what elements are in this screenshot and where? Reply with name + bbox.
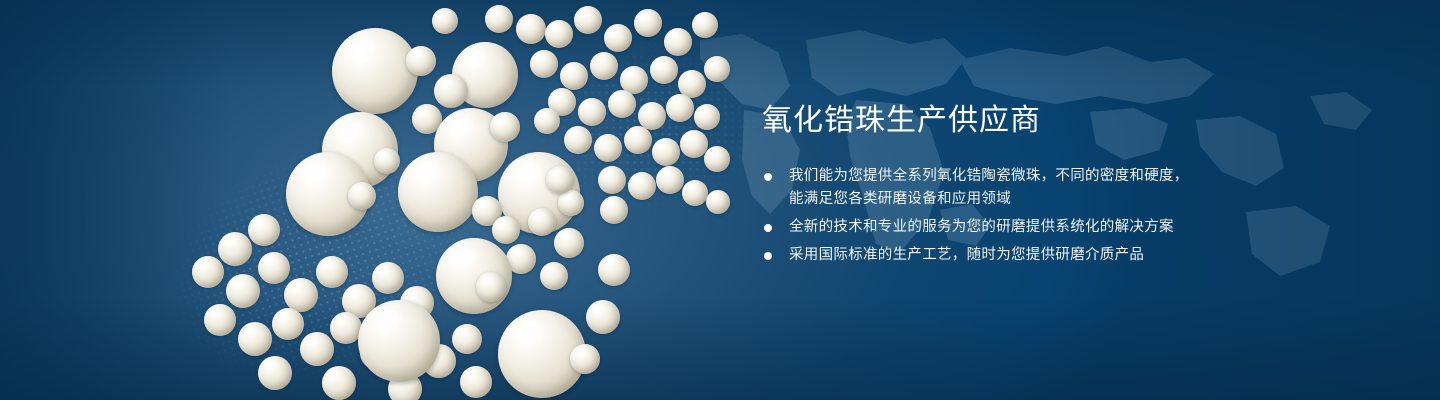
ceramic-bead xyxy=(574,6,602,34)
ceramic-bead xyxy=(238,322,272,356)
ceramic-bead xyxy=(272,308,304,340)
feature-list-item-label: 采用国际标准的生产工艺，随时为您提供研磨介质产品 xyxy=(789,247,1144,263)
ceramic-bead xyxy=(594,134,622,162)
ceramic-bead xyxy=(374,148,400,174)
ceramic-bead xyxy=(598,166,626,194)
bullet-dot-icon xyxy=(764,252,772,260)
ceramic-bead xyxy=(485,5,513,33)
page-title: 氧化锆珠生产供应商 xyxy=(762,104,1232,137)
ceramic-bead xyxy=(628,172,656,200)
feature-list: 我们能为您提供全系列氧化锆陶瓷微珠，不同的密度和硬度， 能满足您各类研磨设备和应… xyxy=(762,165,1232,267)
ceramic-bead xyxy=(516,14,546,44)
ceramic-bead xyxy=(490,112,520,142)
ceramic-bead xyxy=(666,94,694,122)
ceramic-bead xyxy=(432,8,458,34)
ceramic-bead xyxy=(704,146,730,172)
ceramic-bead xyxy=(652,138,680,166)
ceramic-bead xyxy=(564,126,592,154)
bullet-dot-icon xyxy=(764,224,772,232)
ceramic-bead xyxy=(598,254,630,286)
ceramic-bead xyxy=(608,90,636,118)
ceramic-bead xyxy=(530,50,558,78)
ceramic-bead xyxy=(578,98,606,126)
ceramic-bead xyxy=(398,152,478,232)
ceramic-bead xyxy=(558,190,584,216)
ceramic-bead xyxy=(528,208,556,236)
ceramic-bead xyxy=(706,190,730,214)
ceramic-bead xyxy=(560,62,588,90)
ceramic-bead xyxy=(604,24,632,52)
ceramic-bead xyxy=(226,274,260,308)
ceramic-bead xyxy=(650,56,678,84)
ceramic-bead xyxy=(694,104,720,130)
ceramic-bead xyxy=(322,366,356,400)
ceramic-bead xyxy=(204,304,236,336)
ceramic-bead xyxy=(545,20,573,48)
ceramic-bead xyxy=(624,126,652,154)
feature-list-item-label: 全新的技术和专业的服务为您的研磨提供系统化的解决方案 xyxy=(789,219,1174,235)
ceramic-bead xyxy=(656,166,684,194)
ceramic-bead xyxy=(406,46,436,76)
bullet-dot-icon xyxy=(764,173,772,181)
ceramic-bead xyxy=(332,28,418,114)
ceramic-bead xyxy=(570,344,600,374)
ceramic-bead xyxy=(692,12,718,38)
ceramic-bead xyxy=(218,232,252,266)
zirconia-bead-cluster-image xyxy=(0,0,760,400)
ceramic-bead xyxy=(554,228,584,258)
banner-copy-block: 氧化锆珠生产供应商 我们能为您提供全系列氧化锆陶瓷微珠，不同的密度和硬度， 能满… xyxy=(762,104,1232,272)
ceramic-bead xyxy=(534,108,560,134)
ceramic-bead xyxy=(348,182,376,210)
ceramic-bead xyxy=(586,300,620,334)
ceramic-bead xyxy=(372,262,404,294)
feature-list-item: 全新的技术和专业的服务为您的研磨提供系统化的解决方案 xyxy=(762,216,1232,239)
ceramic-bead xyxy=(358,300,440,382)
ceramic-bead xyxy=(452,324,482,354)
ceramic-bead xyxy=(540,262,568,290)
ceramic-bead xyxy=(258,252,290,284)
ceramic-bead xyxy=(664,28,692,56)
ceramic-bead xyxy=(590,52,618,80)
ceramic-bead xyxy=(682,180,708,206)
ceramic-bead xyxy=(258,356,292,390)
ceramic-bead xyxy=(460,366,492,398)
ceramic-bead xyxy=(492,216,520,244)
feature-list-item-label: 我们能为您提供全系列氧化锆陶瓷微珠，不同的密度和硬度， 能满足您各类研磨设备和应… xyxy=(789,168,1189,207)
ceramic-bead xyxy=(546,166,574,194)
ceramic-bead xyxy=(248,214,280,246)
ceramic-bead xyxy=(316,256,348,288)
feature-list-item: 采用国际标准的生产工艺，随时为您提供研磨介质产品 xyxy=(762,244,1232,267)
feature-list-item: 我们能为您提供全系列氧化锆陶瓷微珠，不同的密度和硬度， 能满足您各类研磨设备和应… xyxy=(762,165,1232,211)
ceramic-bead xyxy=(434,74,468,108)
ceramic-bead xyxy=(704,56,730,82)
ceramic-bead xyxy=(634,9,662,37)
ceramic-bead xyxy=(284,278,318,312)
ceramic-bead xyxy=(192,256,224,288)
hero-banner: 氧化锆珠生产供应商 我们能为您提供全系列氧化锆陶瓷微珠，不同的密度和硬度， 能满… xyxy=(0,0,1440,400)
ceramic-bead xyxy=(600,196,628,224)
ceramic-bead xyxy=(476,272,506,302)
ceramic-bead xyxy=(300,332,334,366)
